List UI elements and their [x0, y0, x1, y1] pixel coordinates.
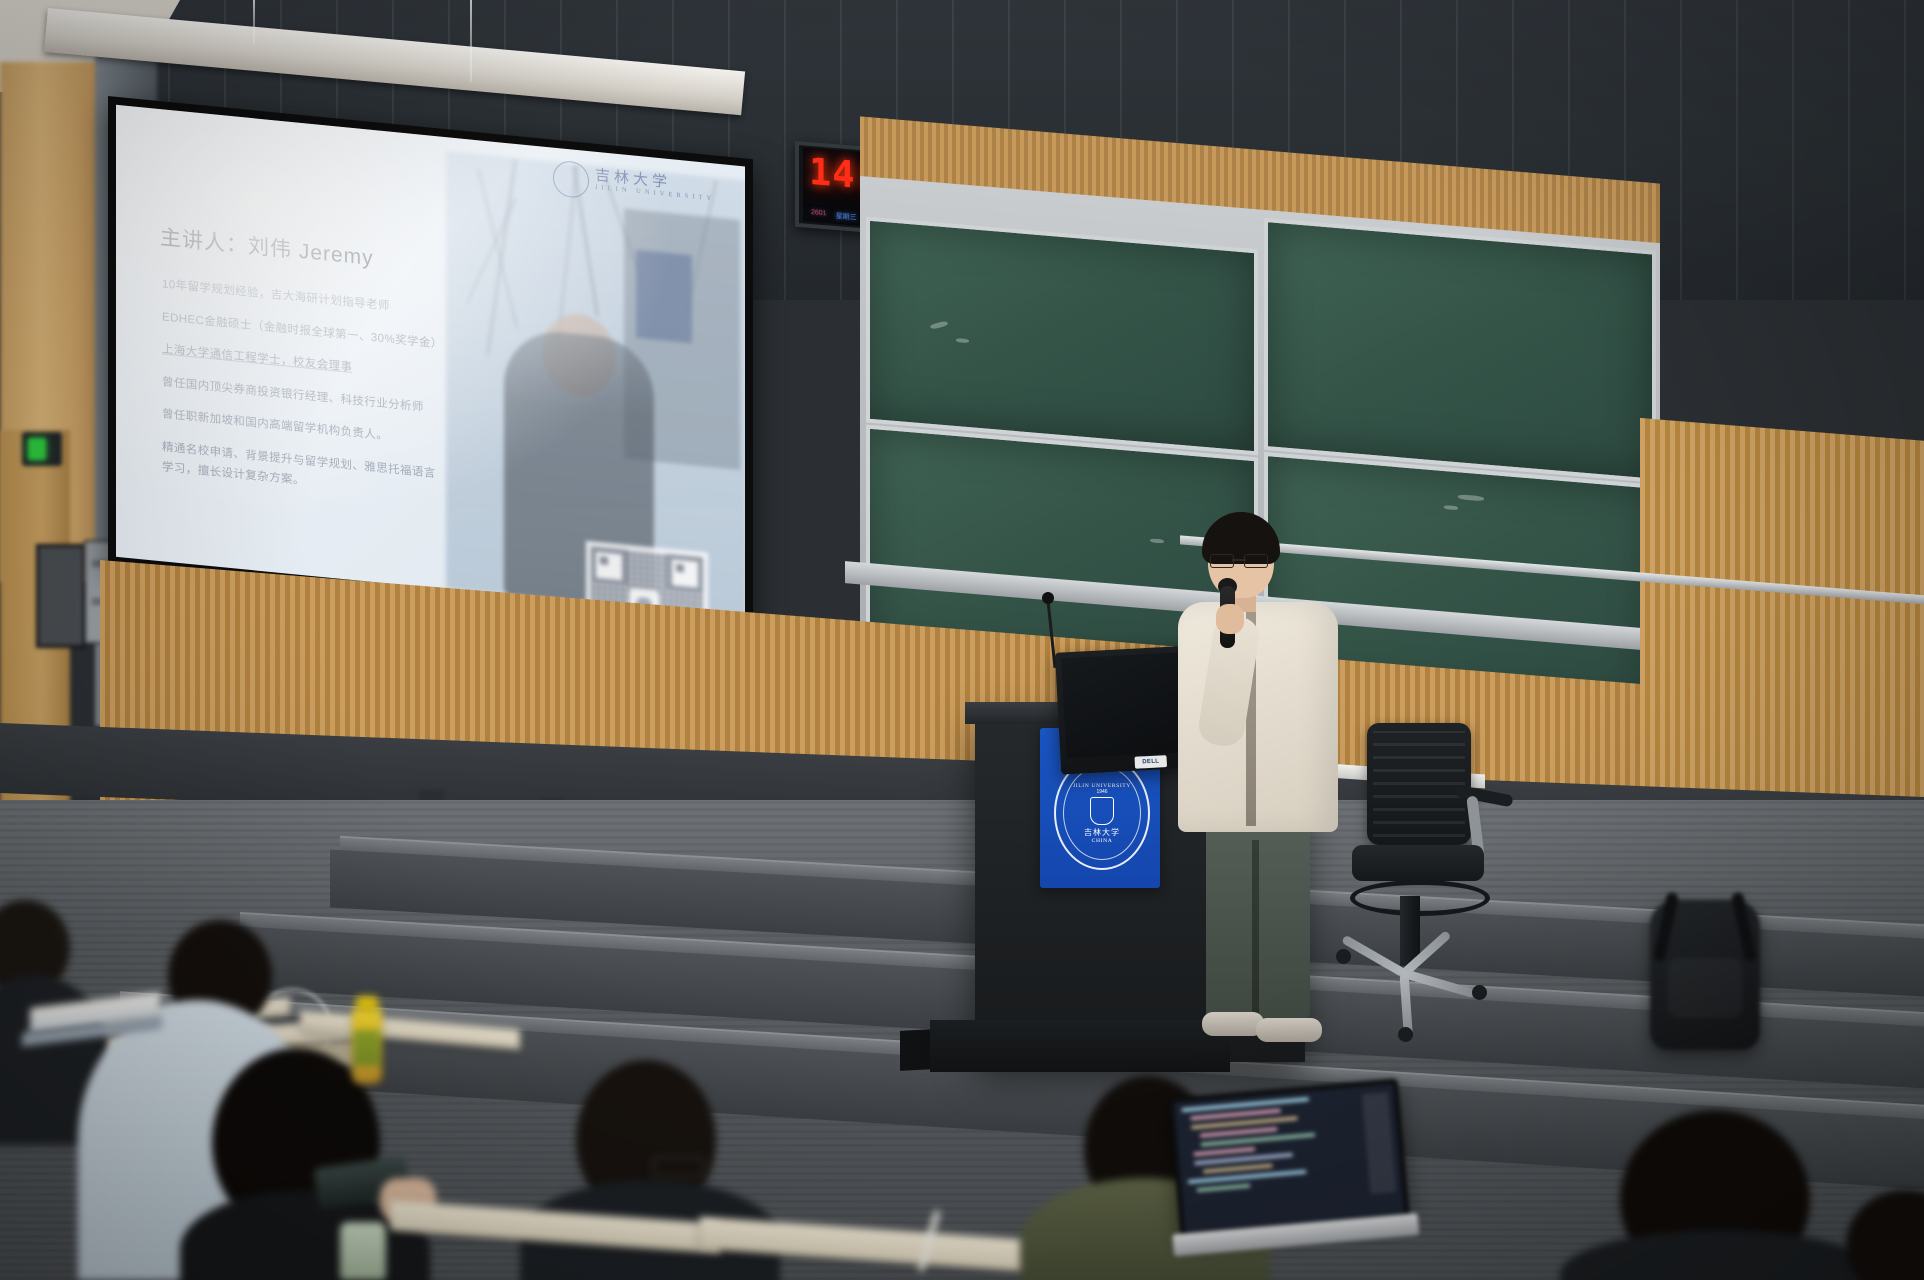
presenter-shoe: [1256, 1018, 1322, 1042]
presenter-leg-split: [1252, 840, 1259, 1020]
presenter-shoe: [1202, 1012, 1264, 1036]
exit-sign-icon: [28, 438, 46, 460]
backpack-pocket: [1668, 958, 1742, 1018]
presenter-glasses: [1210, 554, 1268, 567]
podium-base: [930, 1020, 1230, 1072]
laptop-lid: [1168, 1078, 1409, 1238]
chalkboard-panel: [866, 217, 1258, 456]
projected-slide: 吉林大学 JILIN UNIVERSITY 主讲人：刘伟 Jeremy 10年留…: [116, 105, 745, 619]
control-cabinet-door[interactable]: [36, 544, 86, 648]
code-editor-screen: [1174, 1084, 1404, 1233]
chair-seat[interactable]: [1352, 845, 1484, 881]
drink-bottle: [352, 1008, 382, 1084]
lecture-hall-photo: 吉林大学 JILIN UNIVERSITY 主讲人：刘伟 Jeremy 10年留…: [0, 0, 1924, 1280]
projection-screen: 吉林大学 JILIN UNIVERSITY 主讲人：刘伟 Jeremy 10年留…: [108, 96, 753, 629]
hanging-wire-left: [253, 0, 255, 44]
gooseneck-mic-head: [1042, 592, 1054, 604]
clock-sub-item: 2601: [811, 209, 827, 220]
task-chair-back[interactable]: [1367, 723, 1471, 845]
student-laptop[interactable]: [1168, 1078, 1411, 1257]
hanging-wire-right: [470, 0, 472, 82]
presenter-hand: [1216, 604, 1244, 634]
chair-back-ribs: [1373, 731, 1465, 837]
clock-sub-item: 星期三: [836, 211, 857, 223]
screen-glare: [116, 105, 745, 619]
water-tumbler: [340, 1222, 386, 1280]
bottle-label: [354, 1030, 380, 1066]
dell-logo-text: DELL: [1142, 758, 1159, 765]
editor-minimap: [1362, 1092, 1397, 1194]
dell-logo: DELL: [1134, 755, 1167, 769]
chair-base: [1342, 955, 1492, 989]
backpack: [1650, 900, 1760, 1050]
bottle-cap: [356, 996, 378, 1012]
chair-footring: [1350, 880, 1490, 916]
student-glasses: [652, 1156, 706, 1178]
chalkboard-panel: [1264, 218, 1656, 483]
